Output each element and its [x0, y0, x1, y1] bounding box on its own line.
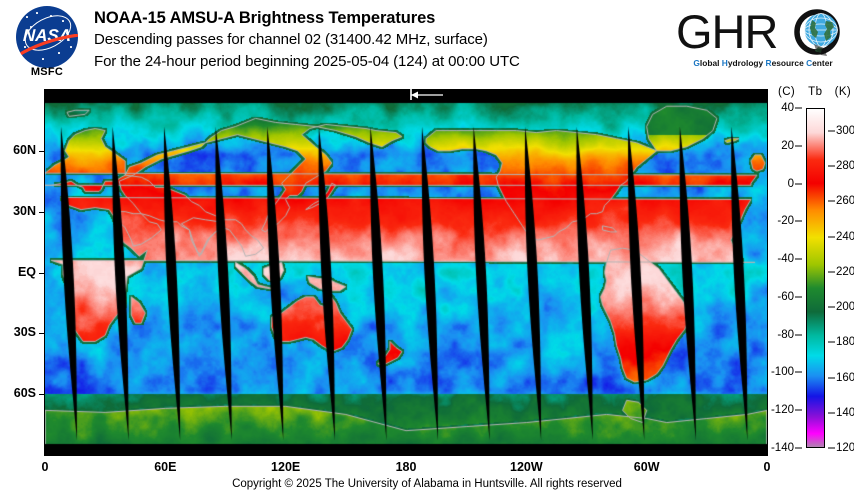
- latitude-label: 60N: [13, 143, 36, 157]
- map-data-canvas[interactable]: [45, 90, 767, 455]
- ghrc-logo: GHR Global Hydrology Resource Center: [676, 8, 848, 78]
- colorbar-kelvin-label: 120: [836, 442, 854, 454]
- longitude-label: 0: [42, 460, 49, 474]
- longitude-tick: [165, 451, 166, 456]
- colorbar-quantity-label: Tb: [808, 86, 822, 98]
- colorbar-kelvin-tick: [828, 342, 835, 343]
- colorbar-kelvin-label: 180: [836, 336, 854, 348]
- colorbar-kelvin-label: 280: [836, 160, 854, 172]
- colorbar-celsius-tick: [795, 372, 802, 373]
- colorbar-kelvin-tick: [828, 166, 835, 167]
- latitude-label: 60S: [14, 386, 36, 400]
- page-subtitle-channel: Descending passes for channel 02 (31400.…: [94, 29, 674, 51]
- colorbar-kelvin-tick: [828, 412, 835, 413]
- longitude-tick: [526, 451, 527, 456]
- longitude-label: 120W: [510, 460, 543, 474]
- colorbar-kelvin-tick: [828, 377, 835, 378]
- colorbar-celsius-label: 40: [781, 102, 794, 114]
- colorbar-celsius-label: -100: [771, 366, 794, 378]
- longitude-tick: [45, 451, 46, 456]
- svg-text:GHR: GHR: [676, 8, 777, 58]
- latitude-tick: [39, 273, 45, 274]
- colorbar-kelvin-tick: [828, 448, 835, 449]
- colorbar-unit-celsius: (C): [778, 86, 795, 98]
- colorbar-kelvin-tick: [828, 201, 835, 202]
- ghrc-acronym-icon: GHR: [676, 8, 848, 58]
- longitude-label: 180: [396, 460, 417, 474]
- colorbar-celsius-tick: [795, 108, 802, 109]
- nasa-meatball-icon: NASA: [16, 6, 78, 68]
- colorbar-kelvin-label: 240: [836, 231, 854, 243]
- latitude-label: 30S: [14, 325, 36, 339]
- latitude-tick: [39, 212, 45, 213]
- colorbar-celsius-label: 20: [781, 140, 794, 152]
- colorbar-celsius-tick: [795, 221, 802, 222]
- longitude-axis: 060E120E180120W60W0: [45, 456, 767, 478]
- page-subtitle-period: For the 24-hour period beginning 2025-05…: [94, 51, 674, 73]
- longitude-tick: [286, 451, 287, 456]
- colorbar-celsius-tick: [795, 145, 802, 146]
- colorbar-celsius-label: -60: [777, 291, 794, 303]
- colorbar-kelvin-label: 220: [836, 266, 854, 278]
- colorbar-kelvin-scale: 300280260240220200180160140120: [828, 100, 854, 456]
- colorbar-kelvin-tick: [828, 236, 835, 237]
- colorbar-kelvin-label: 200: [836, 301, 854, 313]
- longitude-label: 60E: [154, 460, 176, 474]
- latitude-label: EQ: [18, 265, 36, 279]
- nasa-logo: NASA MSFC: [10, 6, 84, 80]
- longitude-label: 60W: [634, 460, 660, 474]
- longitude-tick: [766, 451, 767, 456]
- colorbar-kelvin-label: 160: [836, 372, 854, 384]
- copyright-notice: Copyright © 2025 The University of Alaba…: [0, 478, 854, 490]
- colorbar-celsius-label: -140: [771, 442, 794, 454]
- longitude-tick: [406, 451, 407, 456]
- latitude-tick: [39, 394, 45, 395]
- latitude-tick: [39, 333, 45, 334]
- nasa-swoosh-icon: [16, 34, 78, 58]
- colorbar-kelvin-label: 260: [836, 195, 854, 207]
- title-block: NOAA-15 AMSU-A Brightness Temperatures D…: [94, 8, 674, 73]
- colorbar-celsius-label: -120: [771, 404, 794, 416]
- nasa-center-label: MSFC: [10, 66, 84, 78]
- colorbar-header: (C) Tb (K): [778, 86, 851, 98]
- ghrc-globe-icon: [797, 12, 838, 56]
- colorbar-kelvin-tick: [828, 271, 835, 272]
- longitude-label: 120E: [271, 460, 300, 474]
- longitude-tick: [647, 451, 648, 456]
- colorbar-celsius-tick: [795, 183, 802, 184]
- colorbar-gradient: [806, 108, 825, 448]
- colorbar-celsius-tick: [795, 448, 802, 449]
- colorbar-kelvin-label: 140: [836, 407, 854, 419]
- colorbar-celsius-label: 0: [788, 178, 794, 190]
- colorbar-kelvin-tick: [828, 307, 835, 308]
- latitude-tick: [39, 151, 45, 152]
- colorbar-celsius-scale: 40200-20-40-60-80-100-120-140: [772, 100, 802, 456]
- colorbar-celsius-tick: [795, 410, 802, 411]
- brightness-temperature-map[interactable]: [45, 90, 767, 455]
- colorbar-celsius-tick: [795, 259, 802, 260]
- colorbar-celsius-label: -80: [777, 329, 794, 341]
- page-title: NOAA-15 AMSU-A Brightness Temperatures: [94, 8, 674, 29]
- latitude-label: 30N: [13, 204, 36, 218]
- colorbar-celsius-label: -20: [777, 215, 794, 227]
- descending-node-arrow-icon: [405, 89, 445, 101]
- latitude-axis: 60N30NEQ30S60S: [0, 90, 45, 455]
- colorbar-celsius-tick: [795, 296, 802, 297]
- plot-page: NASA MSFC NOAA-15 AMSU-A Brightness Temp…: [0, 0, 854, 502]
- colorbar-unit-kelvin: (K): [835, 86, 852, 98]
- ghrc-tagline: Global Hydrology Resource Center: [678, 58, 848, 68]
- longitude-label: 0: [764, 460, 771, 474]
- colorbar-celsius-label: -40: [777, 253, 794, 265]
- colorbar-kelvin-tick: [828, 130, 835, 131]
- colorbar-kelvin-label: 300: [836, 125, 854, 137]
- colorbar-celsius-tick: [795, 334, 802, 335]
